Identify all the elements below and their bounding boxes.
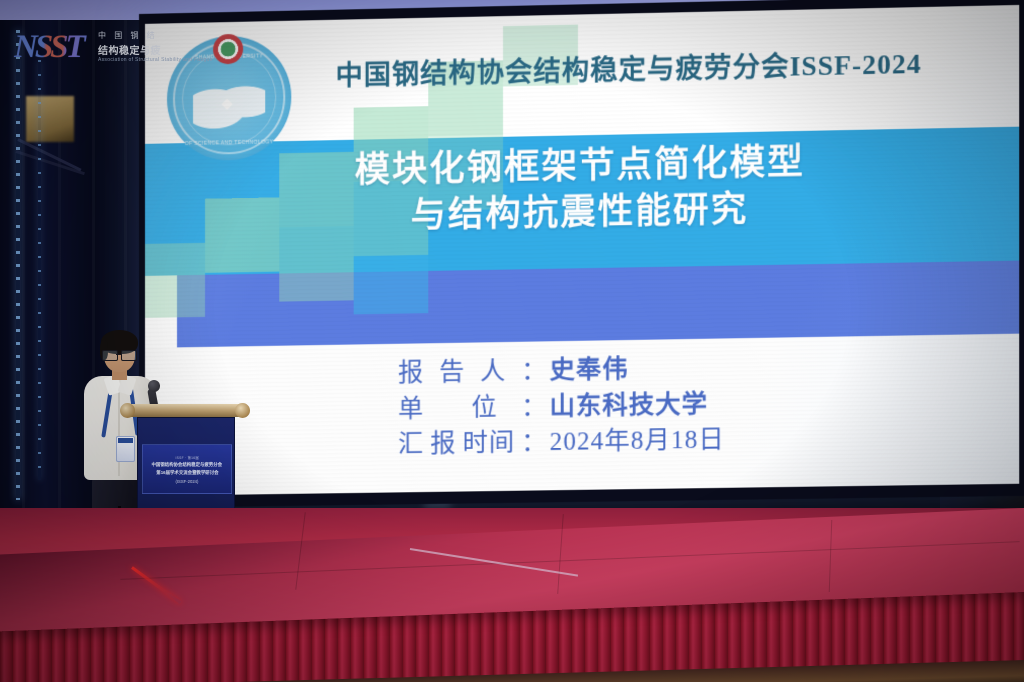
curtain-fold: [22, 20, 25, 540]
lectern-knob: [235, 403, 250, 418]
slide-title: 模块化钢框架节点简化模型 与结构抗震性能研究: [145, 135, 1019, 243]
conference-photo-scene: SHANDONG UNIVERSITY OF SCIENCE AND TECHN…: [0, 0, 1024, 682]
led-light-strip: [16, 30, 20, 500]
slide-meta-block: 报 告 人 ： 史奉伟 单 位 ： 山东科技大学: [398, 347, 927, 462]
led-screen-frame: SHANDONG UNIVERSITY OF SCIENCE AND TECHN…: [139, 0, 1024, 508]
backstage-light-opening: [26, 96, 74, 142]
presentation-slide: SHANDONG UNIVERSITY OF SCIENCE AND TECHN…: [145, 5, 1019, 496]
mosaic-square-cyan: [354, 255, 429, 315]
lectern-sign-line-0: ISSF · 第16届: [175, 455, 198, 460]
slide-header-text: 中国钢结构协会结构稳定与疲劳分会ISSF-2024: [336, 40, 1007, 93]
meta-label-affiliation: 单 位 ：: [398, 389, 550, 427]
conference-logo-line-en: Association of Structural Stability and …: [98, 57, 213, 63]
lectern-sign-line-1: 中国钢结构协会结构稳定与疲劳分会: [152, 462, 223, 468]
conference-logo-line-1: 中 国 钢 结: [98, 30, 158, 41]
conference-logo-line-2: 结构稳定与疲: [98, 42, 161, 57]
microphone-head-icon: [148, 380, 160, 392]
meta-label-presenter: 报 告 人 ：: [398, 353, 550, 391]
meta-label-date: 汇 报 时间 ：: [398, 425, 550, 463]
meta-value-presenter: 史奉伟: [550, 352, 629, 389]
glasses-lens: [121, 350, 137, 361]
lectern-top: [125, 404, 245, 417]
lectern-sign-line-3: (ISSF-2024): [176, 479, 199, 484]
conference-logo-mark: NSST: [14, 30, 92, 64]
university-seal-logo: SHANDONG UNIVERSITY OF SCIENCE AND TECHN…: [167, 35, 291, 162]
glasses-lens: [102, 350, 118, 361]
meta-value-affiliation: 山东科技大学: [550, 387, 708, 425]
lectern-sign-line-2: 第16届学术交流会暨教学研讨会: [156, 470, 218, 476]
meta-row-date: 汇 报 时间 ： 2024年8月18日: [398, 419, 927, 463]
speaker-shirt-placket: [118, 390, 120, 476]
mosaic-square: [145, 243, 205, 318]
conference-logo: NSST 中 国 钢 结 结构稳定与疲 Association of Struc…: [14, 28, 144, 68]
lectern-sign: ISSF · 第16届 中国钢结构协会结构稳定与疲劳分会 第16届学术交流会暨教…: [142, 444, 232, 494]
meta-value-date: 2024年8月18日: [550, 422, 725, 460]
glasses-icon: [102, 350, 137, 359]
led-light-strip: [38, 60, 41, 480]
lectern-knob: [120, 403, 135, 418]
